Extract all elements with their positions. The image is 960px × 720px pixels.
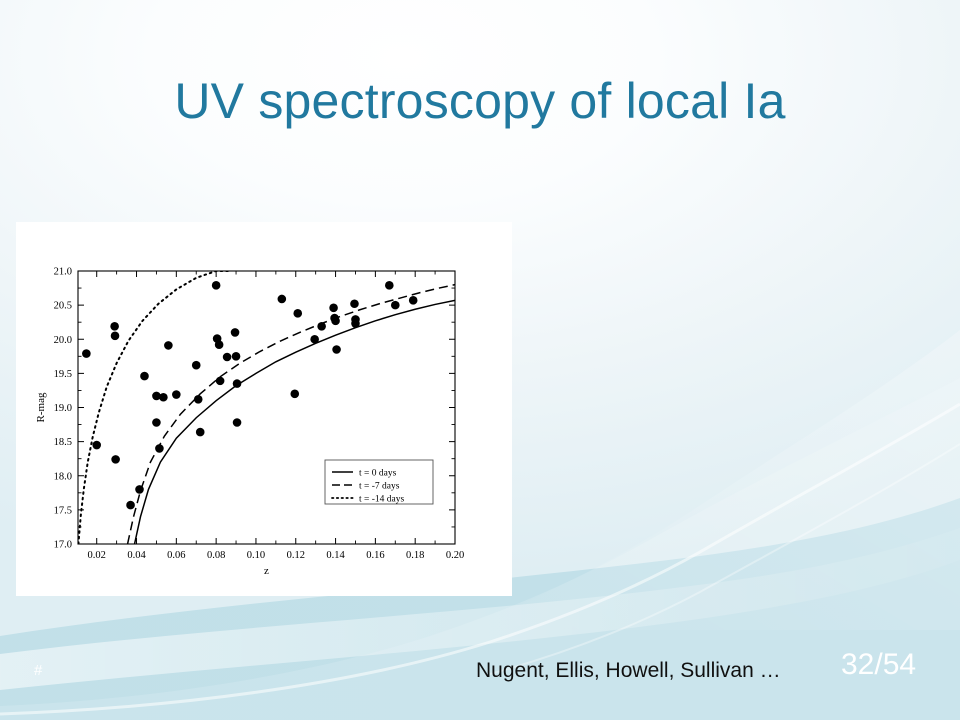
data-point <box>232 352 241 361</box>
data-point <box>329 304 338 313</box>
data-point <box>293 309 302 318</box>
data-point <box>290 390 299 399</box>
data-point <box>155 444 164 453</box>
x-tick-label: 0.20 <box>446 550 464 561</box>
data-point <box>385 281 394 290</box>
y-axis-tick-labels: 17.017.518.018.519.019.520.020.521.0 <box>54 267 72 551</box>
data-point <box>231 328 240 337</box>
chart-canvas <box>16 222 512 596</box>
page-number: 32/54 <box>841 648 916 682</box>
y-tick-label: 21.0 <box>54 267 72 278</box>
data-point <box>140 372 149 381</box>
data-point <box>110 322 119 331</box>
data-point <box>391 301 400 310</box>
data-point <box>317 322 326 331</box>
credit-text: Nugent, Ellis, Howell, Sullivan … <box>476 659 781 683</box>
x-tick-label: 0.06 <box>167 550 185 561</box>
data-point <box>196 428 205 437</box>
x-tick-label: 0.14 <box>326 550 345 561</box>
x-axis-label: z <box>264 565 269 577</box>
data-point <box>152 418 161 427</box>
data-point <box>194 395 203 404</box>
y-tick-label: 19.0 <box>54 403 72 414</box>
scatter-chart: 0.020.040.060.080.100.120.140.160.180.20… <box>16 222 512 596</box>
page-title: UV spectroscopy of local Ia <box>0 72 960 130</box>
x-tick-label: 0.10 <box>247 550 265 561</box>
x-tick-label: 0.12 <box>287 550 305 561</box>
data-point <box>310 335 319 344</box>
y-axis-label: R-mag <box>35 392 47 422</box>
data-point <box>164 341 173 350</box>
data-point <box>135 485 144 494</box>
data-point <box>92 441 101 450</box>
data-point <box>350 299 359 308</box>
figure-panel: 0.020.040.060.080.100.120.140.160.180.20… <box>16 222 512 596</box>
data-point <box>215 340 224 349</box>
y-tick-label: 18.5 <box>54 437 72 448</box>
x-tick-label: 0.16 <box>366 550 384 561</box>
data-point <box>159 393 168 402</box>
y-tick-label: 17.0 <box>54 540 72 551</box>
data-point <box>111 332 120 341</box>
x-tick-label: 0.04 <box>127 550 146 561</box>
y-tick-label: 19.5 <box>54 369 72 380</box>
x-tick-label: 0.18 <box>406 550 424 561</box>
data-point <box>351 319 360 328</box>
data-point <box>332 345 341 354</box>
legend-label: t = -14 days <box>359 495 405 505</box>
y-tick-label: 17.5 <box>54 505 72 516</box>
data-point <box>409 296 418 305</box>
legend-label: t = -7 days <box>359 482 400 492</box>
chart-legend: t = 0 dayst = -7 dayst = -14 days <box>325 460 433 505</box>
data-point <box>126 501 135 510</box>
data-point <box>111 455 120 464</box>
data-point <box>331 317 340 326</box>
legend-label: t = 0 days <box>359 469 397 479</box>
data-point <box>278 295 287 304</box>
data-point <box>216 377 225 386</box>
data-point <box>233 379 242 388</box>
slide: UV spectroscopy of local Ia 0.020.040.06… <box>0 0 960 720</box>
data-point <box>223 353 232 362</box>
data-point <box>233 418 242 427</box>
y-tick-label: 20.5 <box>54 301 72 312</box>
x-tick-label: 0.08 <box>207 550 225 561</box>
y-tick-label: 20.0 <box>54 335 72 346</box>
data-point <box>172 390 181 399</box>
data-point <box>212 281 221 290</box>
y-tick-label: 18.0 <box>54 471 72 482</box>
data-point <box>82 349 91 358</box>
data-point <box>192 361 201 370</box>
x-tick-label: 0.02 <box>88 550 106 561</box>
slide-number-placeholder: # <box>34 662 42 679</box>
